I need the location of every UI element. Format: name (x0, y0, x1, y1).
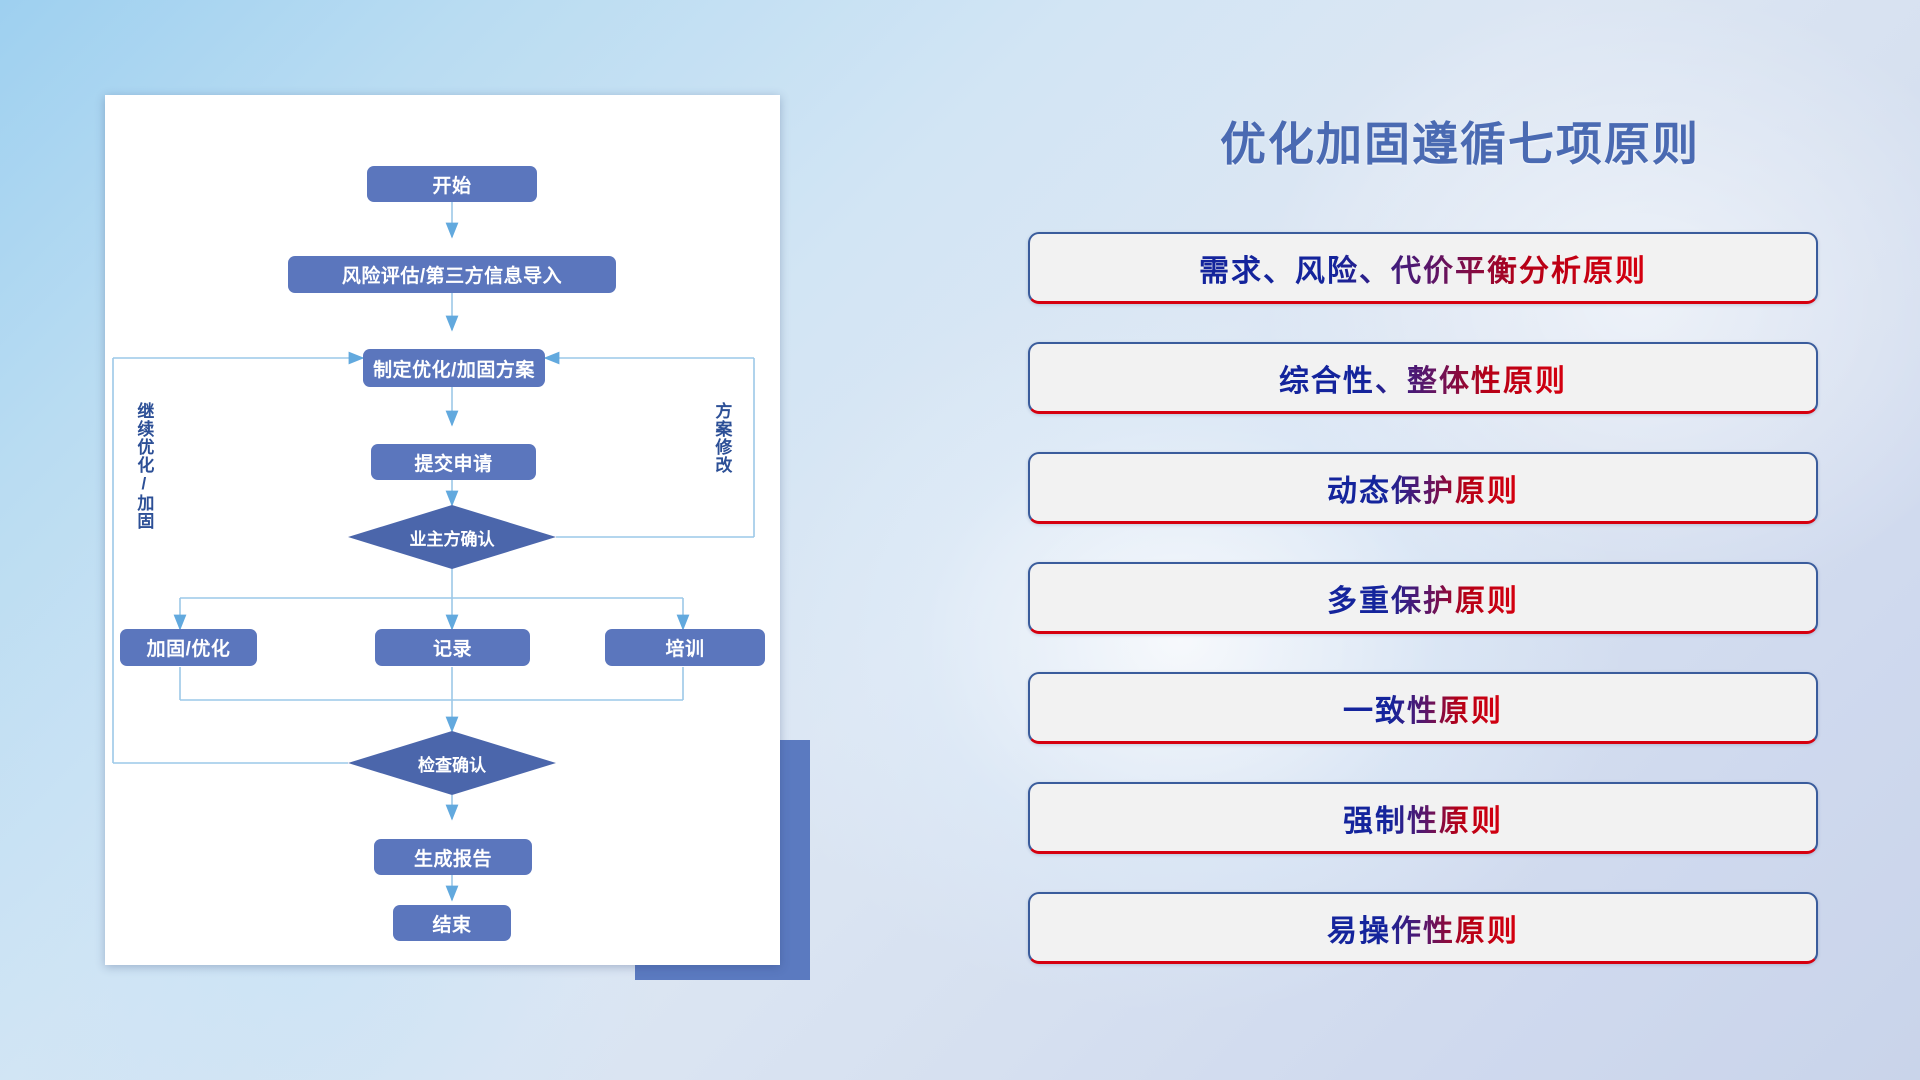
principle-label: 易操作性原则 (1327, 906, 1519, 950)
principle-label: 多重保护原则 (1327, 576, 1519, 620)
flow-decision-label: 检查确认 (418, 751, 486, 776)
principles-panel: 优化加固遵循七项原则 需求、风险、代价平衡分析原则 综合性、整体性原则 动态保护… (1020, 0, 1900, 1080)
flow-decision-label: 业主方确认 (410, 525, 495, 550)
flow-node-generate-report[interactable]: 生成报告 (374, 839, 532, 875)
principle-label: 综合性、整体性原则 (1279, 356, 1567, 400)
principle-item[interactable]: 需求、风险、代价平衡分析原则 (1028, 232, 1818, 304)
flow-node-risk-assessment[interactable]: 风险评估/第三方信息导入 (288, 256, 616, 293)
principle-item[interactable]: 动态保护原则 (1028, 452, 1818, 524)
slide-canvas: 开始 风险评估/第三方信息导入 制定优化/加固方案 提交申请 业主方确认 加固/… (0, 0, 1920, 1080)
principle-item[interactable]: 多重保护原则 (1028, 562, 1818, 634)
principle-item[interactable]: 易操作性原则 (1028, 892, 1818, 964)
flow-node-training[interactable]: 培训 (605, 629, 765, 666)
flow-edge-label-plan-revision: 方案修改 (713, 402, 730, 474)
principles-title: 优化加固遵循七项原则 (1020, 108, 1900, 174)
flow-edge-label-continue-optimize: 继续优化/加固 (135, 402, 152, 530)
flow-node-label: 结束 (432, 910, 471, 937)
principle-label: 动态保护原则 (1327, 466, 1519, 510)
flow-node-label: 制定优化/加固方案 (373, 355, 535, 382)
principle-label: 需求、风险、代价平衡分析原则 (1199, 246, 1647, 290)
flow-node-submit-application[interactable]: 提交申请 (371, 444, 536, 480)
flow-decision-owner-confirm[interactable]: 业主方确认 (348, 505, 556, 569)
flow-node-label: 记录 (433, 634, 472, 661)
flow-node-reinforce[interactable]: 加固/优化 (120, 629, 257, 666)
flow-node-start[interactable]: 开始 (367, 166, 537, 202)
flow-node-label: 风险评估/第三方信息导入 (342, 261, 562, 288)
flowchart-card: 开始 风险评估/第三方信息导入 制定优化/加固方案 提交申请 业主方确认 加固/… (105, 95, 780, 965)
flow-node-label: 生成报告 (414, 844, 492, 871)
flow-node-label: 开始 (432, 171, 471, 198)
principle-item[interactable]: 强制性原则 (1028, 782, 1818, 854)
flow-decision-check-confirm[interactable]: 检查确认 (348, 731, 556, 795)
flow-node-label: 加固/优化 (147, 634, 231, 661)
flow-node-plan[interactable]: 制定优化/加固方案 (363, 349, 545, 387)
principle-item[interactable]: 综合性、整体性原则 (1028, 342, 1818, 414)
flow-node-record[interactable]: 记录 (375, 629, 530, 666)
principle-label: 一致性原则 (1343, 686, 1503, 730)
principles-list: 需求、风险、代价平衡分析原则 综合性、整体性原则 动态保护原则 多重保护原则 一… (1028, 232, 1818, 1002)
principle-item[interactable]: 一致性原则 (1028, 672, 1818, 744)
flow-node-label: 提交申请 (414, 449, 492, 476)
flow-node-end[interactable]: 结束 (393, 905, 511, 941)
principle-label: 强制性原则 (1343, 796, 1503, 840)
flow-node-label: 培训 (665, 634, 704, 661)
